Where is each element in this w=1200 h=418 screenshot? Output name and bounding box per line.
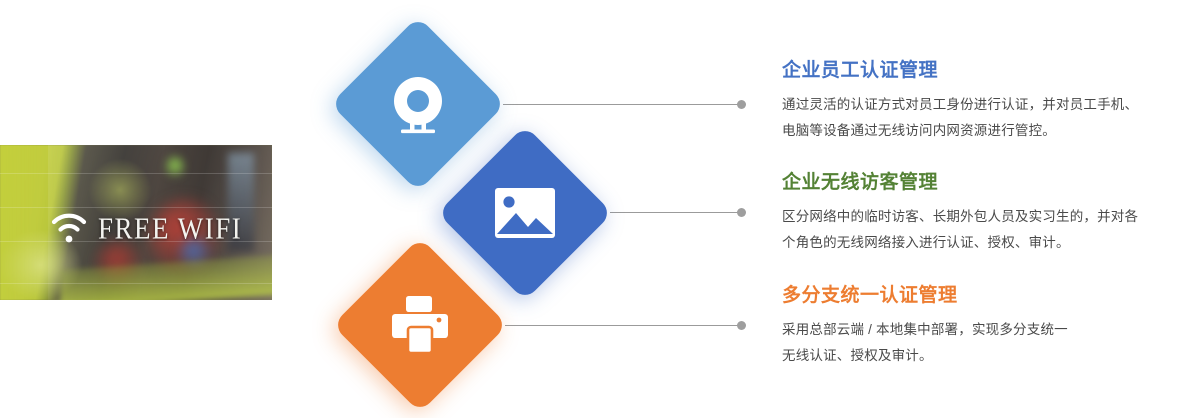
feature-title-3: 多分支统一认证管理: [782, 285, 1194, 308]
photo-scanline: [0, 173, 272, 174]
feature-text-3: 多分支统一认证管理 采用总部云端 / 本地集中部署，实现多分支统一 无线认证、授…: [782, 285, 1194, 369]
feature-body-3: 采用总部云端 / 本地集中部署，实现多分支统一 无线认证、授权及审计。: [782, 317, 1194, 370]
feature-body-line: 采用总部云端 / 本地集中部署，实现多分支统一: [782, 322, 1068, 337]
feature-body-line: 区分网络中的临时访客、长期外包人员及实习生的，并对各: [782, 209, 1138, 224]
wifi-icon: [50, 211, 88, 245]
connector-dot-2: [737, 208, 746, 217]
photo-scanline: [0, 207, 272, 208]
feature-showcase-section: FREE WIFI: [0, 0, 1200, 418]
connector-line-2: [610, 212, 741, 213]
feature-text-2: 企业无线访客管理 区分网络中的临时访客、长期外包人员及实习生的，并对各 个角色的…: [782, 172, 1194, 256]
webcam-icon: [385, 71, 451, 137]
feature-body-1: 通过灵活的认证方式对员工身份进行认证，并对员工手机、 电脑等设备通过无线访问内网…: [782, 92, 1194, 145]
feature-badge-2[interactable]: [437, 125, 612, 300]
photo-scanline: [0, 283, 272, 284]
free-wifi-photo: FREE WIFI: [0, 145, 272, 300]
feature-body-line: 电脑等设备通过无线访问内网资源进行管控。: [782, 123, 1056, 138]
feature-badge-3[interactable]: [332, 237, 507, 412]
printer-icon: [389, 296, 451, 354]
connector-dot-3: [737, 321, 746, 330]
photo-overlay-text: FREE WIFI: [98, 211, 242, 247]
connector-line-3: [505, 325, 741, 326]
image-icon: [495, 188, 555, 238]
feature-body-2: 区分网络中的临时访客、长期外包人员及实习生的，并对各 个角色的无线网络接入进行认…: [782, 204, 1194, 257]
feature-badge-1[interactable]: [330, 16, 505, 191]
feature-body-line: 无线认证、授权及审计。: [782, 348, 933, 363]
connector-dot-1: [737, 100, 746, 109]
feature-title-2: 企业无线访客管理: [782, 172, 1194, 195]
connector-line-1: [503, 104, 741, 105]
feature-text-1: 企业员工认证管理 通过灵活的认证方式对员工身份进行认证，并对员工手机、 电脑等设…: [782, 60, 1194, 144]
feature-title-1: 企业员工认证管理: [782, 60, 1194, 83]
feature-body-line: 个角色的无线网络接入进行认证、授权、审计。: [782, 235, 1070, 250]
feature-body-line: 通过灵活的认证方式对员工身份进行认证，并对员工手机、: [782, 97, 1138, 112]
